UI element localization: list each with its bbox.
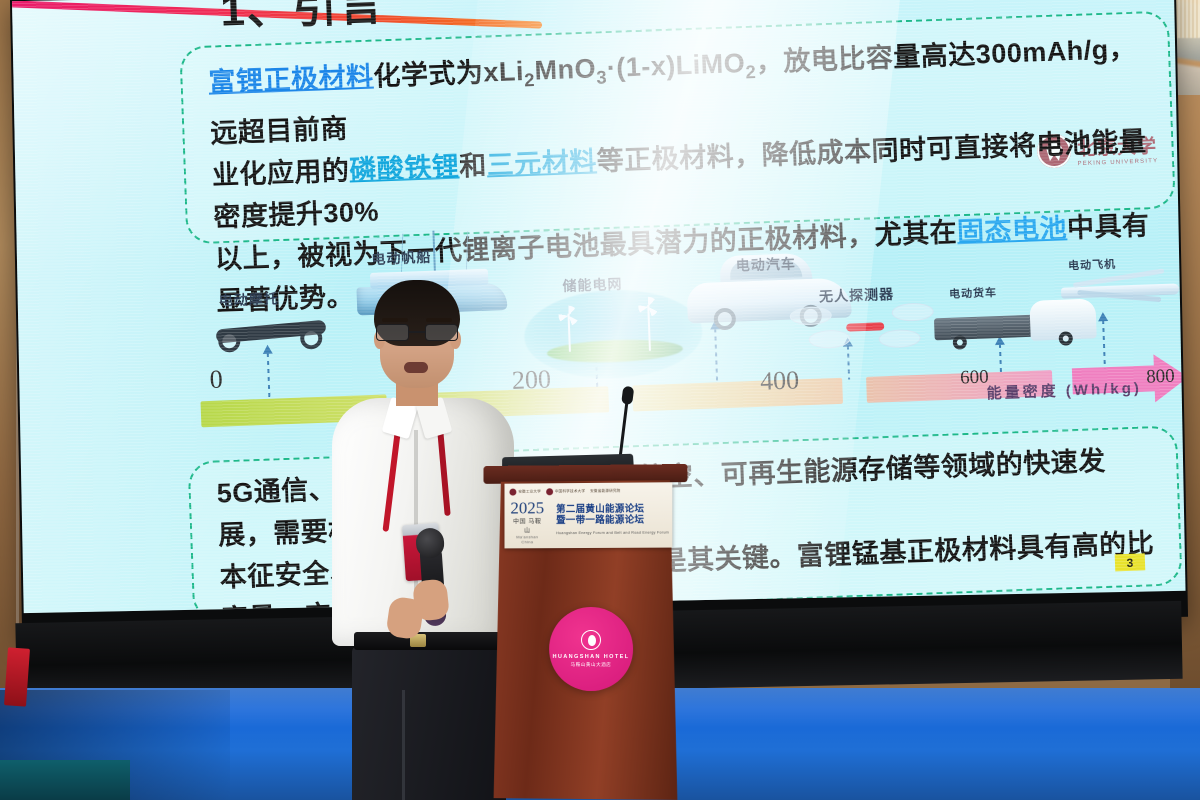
caption-electric-truck: 电动货车 [949, 284, 998, 302]
podium-sign: 安徽工业大学 中国科学技术大学 安徽省能源研究院 2025 中国 马鞍山 Ma'… [504, 482, 672, 548]
university-name-3: 安徽省能源研究院 [590, 489, 620, 494]
hotel-logo: HUANGSHAN HOTEL 马鞍山黄山大酒店 [549, 607, 633, 691]
forum-location-zh: 中国 马鞍山 [510, 516, 544, 534]
pointer-arrow-motorcycle [267, 353, 271, 399]
top-line2-c: 和 [459, 151, 488, 182]
caption-electric-aircraft: 电动飞机 [1068, 256, 1117, 274]
forum-title-line1: 第二届黄山能源论坛 [556, 503, 669, 515]
forum-year: 2025 [510, 499, 544, 516]
caption-unmanned-probe: 无人探测器 [819, 284, 895, 307]
eyebrow-right [426, 318, 452, 322]
side-floor [0, 760, 130, 800]
top-line1-b: 化学式为xLi [373, 56, 525, 91]
tick-800: 800 [1146, 366, 1175, 389]
belt [354, 632, 504, 650]
caption-energy-storage-grid: 储能电网 [562, 274, 623, 296]
university-name-1: 安徽工业大学 [518, 489, 541, 494]
pointer-arrow-car [714, 328, 718, 382]
university-logo-1: 安徽工业大学 [509, 488, 541, 495]
university-logo-2: 中国科学技术大学 [546, 488, 585, 495]
hotel-name-en: HUANGSHAN HOTEL [553, 654, 630, 660]
tick-400: 400 [760, 365, 800, 396]
highlight-nmc: 三元材料 [486, 147, 597, 181]
mouth [404, 362, 428, 373]
red-banner [4, 647, 30, 706]
slide-title: 1、引言 [219, 0, 386, 39]
hotel-name-cn: 马鞍山黄山大酒店 [571, 662, 612, 668]
tick-600: 600 [960, 366, 989, 389]
trouser-seam [402, 690, 405, 800]
forum-year-block: 2025 中国 马鞍山 Ma'anshan China [510, 499, 544, 544]
trousers [352, 646, 506, 800]
electric-motorcycle-icon [215, 304, 333, 354]
scale-segment-3 [632, 378, 843, 412]
forum-title-block: 第二届黄山能源论坛 暨一带一路能源论坛 Huangshan Energy For… [556, 503, 669, 539]
top-line2-a: 业化应用的 [211, 156, 350, 191]
eyebrow-left [382, 318, 408, 322]
forum-title-line2: 暨一带一路能源论坛 [556, 514, 669, 526]
electric-aircraft-icon [1042, 267, 1185, 318]
slide-top-text-card: 富锂正极材料化学式为xLi2MnO3·(1-x)LiMO2，放电比容量高达300… [179, 10, 1176, 244]
caption-electric-sailboat: 电动帆船 [371, 247, 432, 269]
pointer-arrow-truck [999, 344, 1002, 376]
tick-0: 0 [209, 364, 223, 394]
caption-electric-vehicle: 电动汽车 [736, 253, 797, 275]
podium-sign-main: 2025 中国 马鞍山 Ma'anshan China 第二届黄山能源论坛 暨一… [504, 496, 672, 546]
slide-page-number: 3 [1115, 553, 1146, 571]
top-line1-sub3: 2 [745, 61, 756, 82]
forum-title-en: Huangshan Energy Forum and Belt and Road… [556, 527, 669, 539]
university-name-2: 中国科学技术大学 [555, 489, 585, 494]
caption-electric-motorcycle: 电动摩托 [218, 288, 279, 310]
highlight-rich-lithium-cathode: 富锂正极材料 [208, 62, 374, 98]
podium: 安徽工业大学 中国科学技术大学 安徽省能源研究院 2025 中国 马鞍山 Ma'… [488, 464, 684, 800]
top-line1-c: MnO [534, 53, 597, 85]
hotel-mark-icon [581, 630, 601, 650]
highlight-lfp: 磷酸铁锂 [349, 152, 460, 186]
energy-storage-grid-icon [523, 287, 706, 386]
conference-scene: 1、引言 北京大学 PEKING UNIVERSITY 富锂正极材料化学式为xL… [0, 0, 1200, 800]
top-line1-d: ·(1-x)LiMO [606, 48, 745, 83]
podium-sign-universities: 安徽工业大学 中国科学技术大学 安徽省能源研究院 [504, 482, 672, 497]
forum-location-en: Ma'anshan China [510, 534, 544, 544]
glasses-icon [376, 324, 458, 341]
